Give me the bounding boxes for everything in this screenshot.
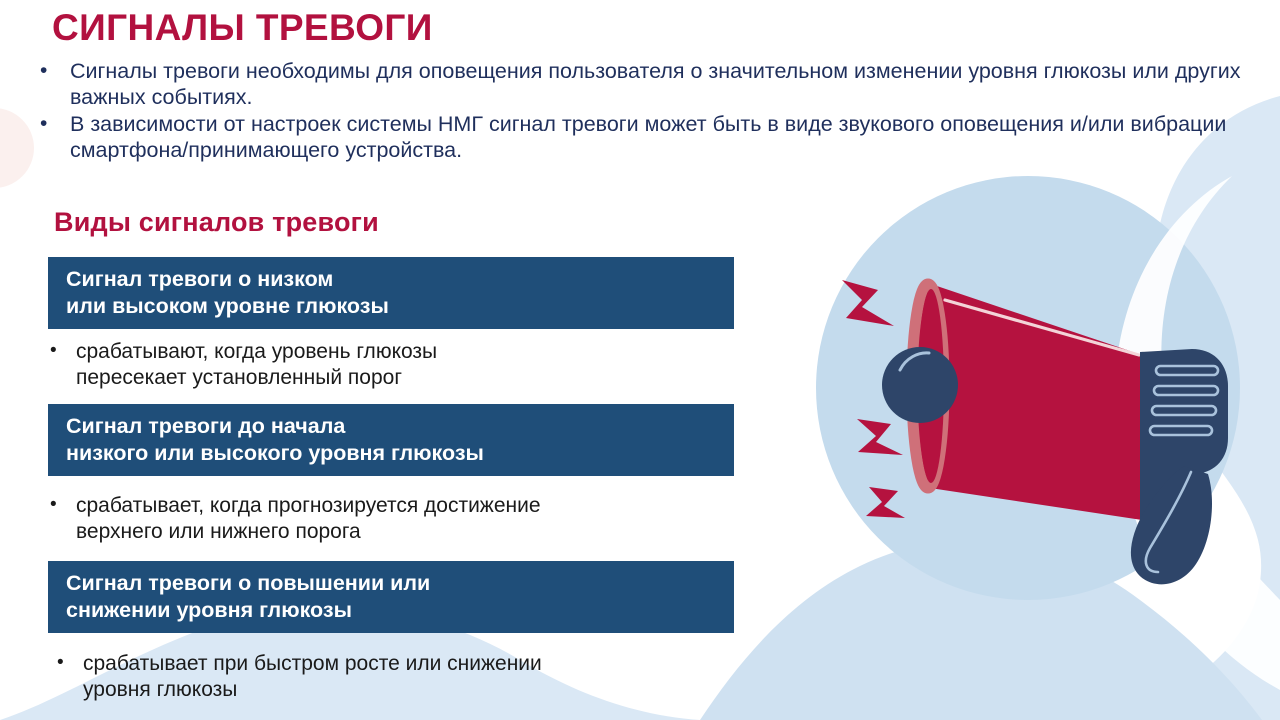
intro-bullet-list: • Сигналы тревоги необходимы для оповеще… xyxy=(40,58,1255,164)
page-title: СИГНАЛЫ ТРЕВОГИ xyxy=(52,8,433,48)
alarm-band-1-line-1: Сигнал тревоги о низком xyxy=(66,266,734,293)
alarm-note-2-text: срабатывает, когда прогнозируется достиж… xyxy=(76,493,541,546)
intro-bullet-2: • В зависимости от настроек системы НМГ … xyxy=(40,111,1255,163)
bullet-glyph-icon: • xyxy=(40,58,70,83)
alarm-band-2: Сигнал тревоги до начала низкого или выс… xyxy=(48,404,734,476)
alarm-note-3-text: срабатывает при быстром росте или снижен… xyxy=(83,651,542,704)
intro-bullet-2-text: В зависимости от настроек системы НМГ си… xyxy=(70,111,1255,163)
intro-bullet-1: • Сигналы тревоги необходимы для оповеще… xyxy=(40,58,1255,110)
slide: СИГНАЛЫ ТРЕВОГИ • Сигналы тревоги необхо… xyxy=(0,0,1280,720)
alarm-note-2-line-2: верхнего или нижнего порога xyxy=(76,519,541,545)
slide-content: СИГНАЛЫ ТРЕВОГИ • Сигналы тревоги необхо… xyxy=(0,0,1280,720)
alarm-band-1: Сигнал тревоги о низком или высоком уров… xyxy=(48,257,734,329)
alarm-note-2-line-1: срабатывает, когда прогнозируется достиж… xyxy=(76,493,541,519)
alarm-band-3: Сигнал тревоги о повышении или снижении … xyxy=(48,561,734,633)
alarm-band-2-line-1: Сигнал тревоги до начала xyxy=(66,413,734,440)
section-heading: Виды сигналов тревоги xyxy=(54,207,379,238)
intro-bullet-1-text: Сигналы тревоги необходимы для оповещени… xyxy=(70,58,1255,110)
alarm-note-3-line-2: уровня глюкозы xyxy=(83,677,542,703)
alarm-band-2-line-2: низкого или высокого уровня глюкозы xyxy=(66,440,734,467)
alarm-note-1-line-1: срабатывают, когда уровень глюкозы xyxy=(76,339,437,365)
alarm-note-3-line-1: срабатывает при быстром росте или снижен… xyxy=(83,651,542,677)
alarm-note-1-text: срабатывают, когда уровень глюкозы перес… xyxy=(76,339,437,392)
alarm-note-2: • срабатывает, когда прогнозируется дост… xyxy=(50,493,541,546)
bullet-glyph-icon: • xyxy=(40,111,70,136)
alarm-band-1-line-2: или высоком уровне глюкозы xyxy=(66,293,734,320)
alarm-note-3: • срабатывает при быстром росте или сниж… xyxy=(57,651,542,704)
alarm-note-1-line-2: пересекает установленный порог xyxy=(76,365,437,391)
alarm-band-3-line-2: снижении уровня глюкозы xyxy=(66,597,734,624)
alarm-band-3-line-1: Сигнал тревоги о повышении или xyxy=(66,570,734,597)
alarm-note-1: • срабатывают, когда уровень глюкозы пер… xyxy=(50,339,437,392)
